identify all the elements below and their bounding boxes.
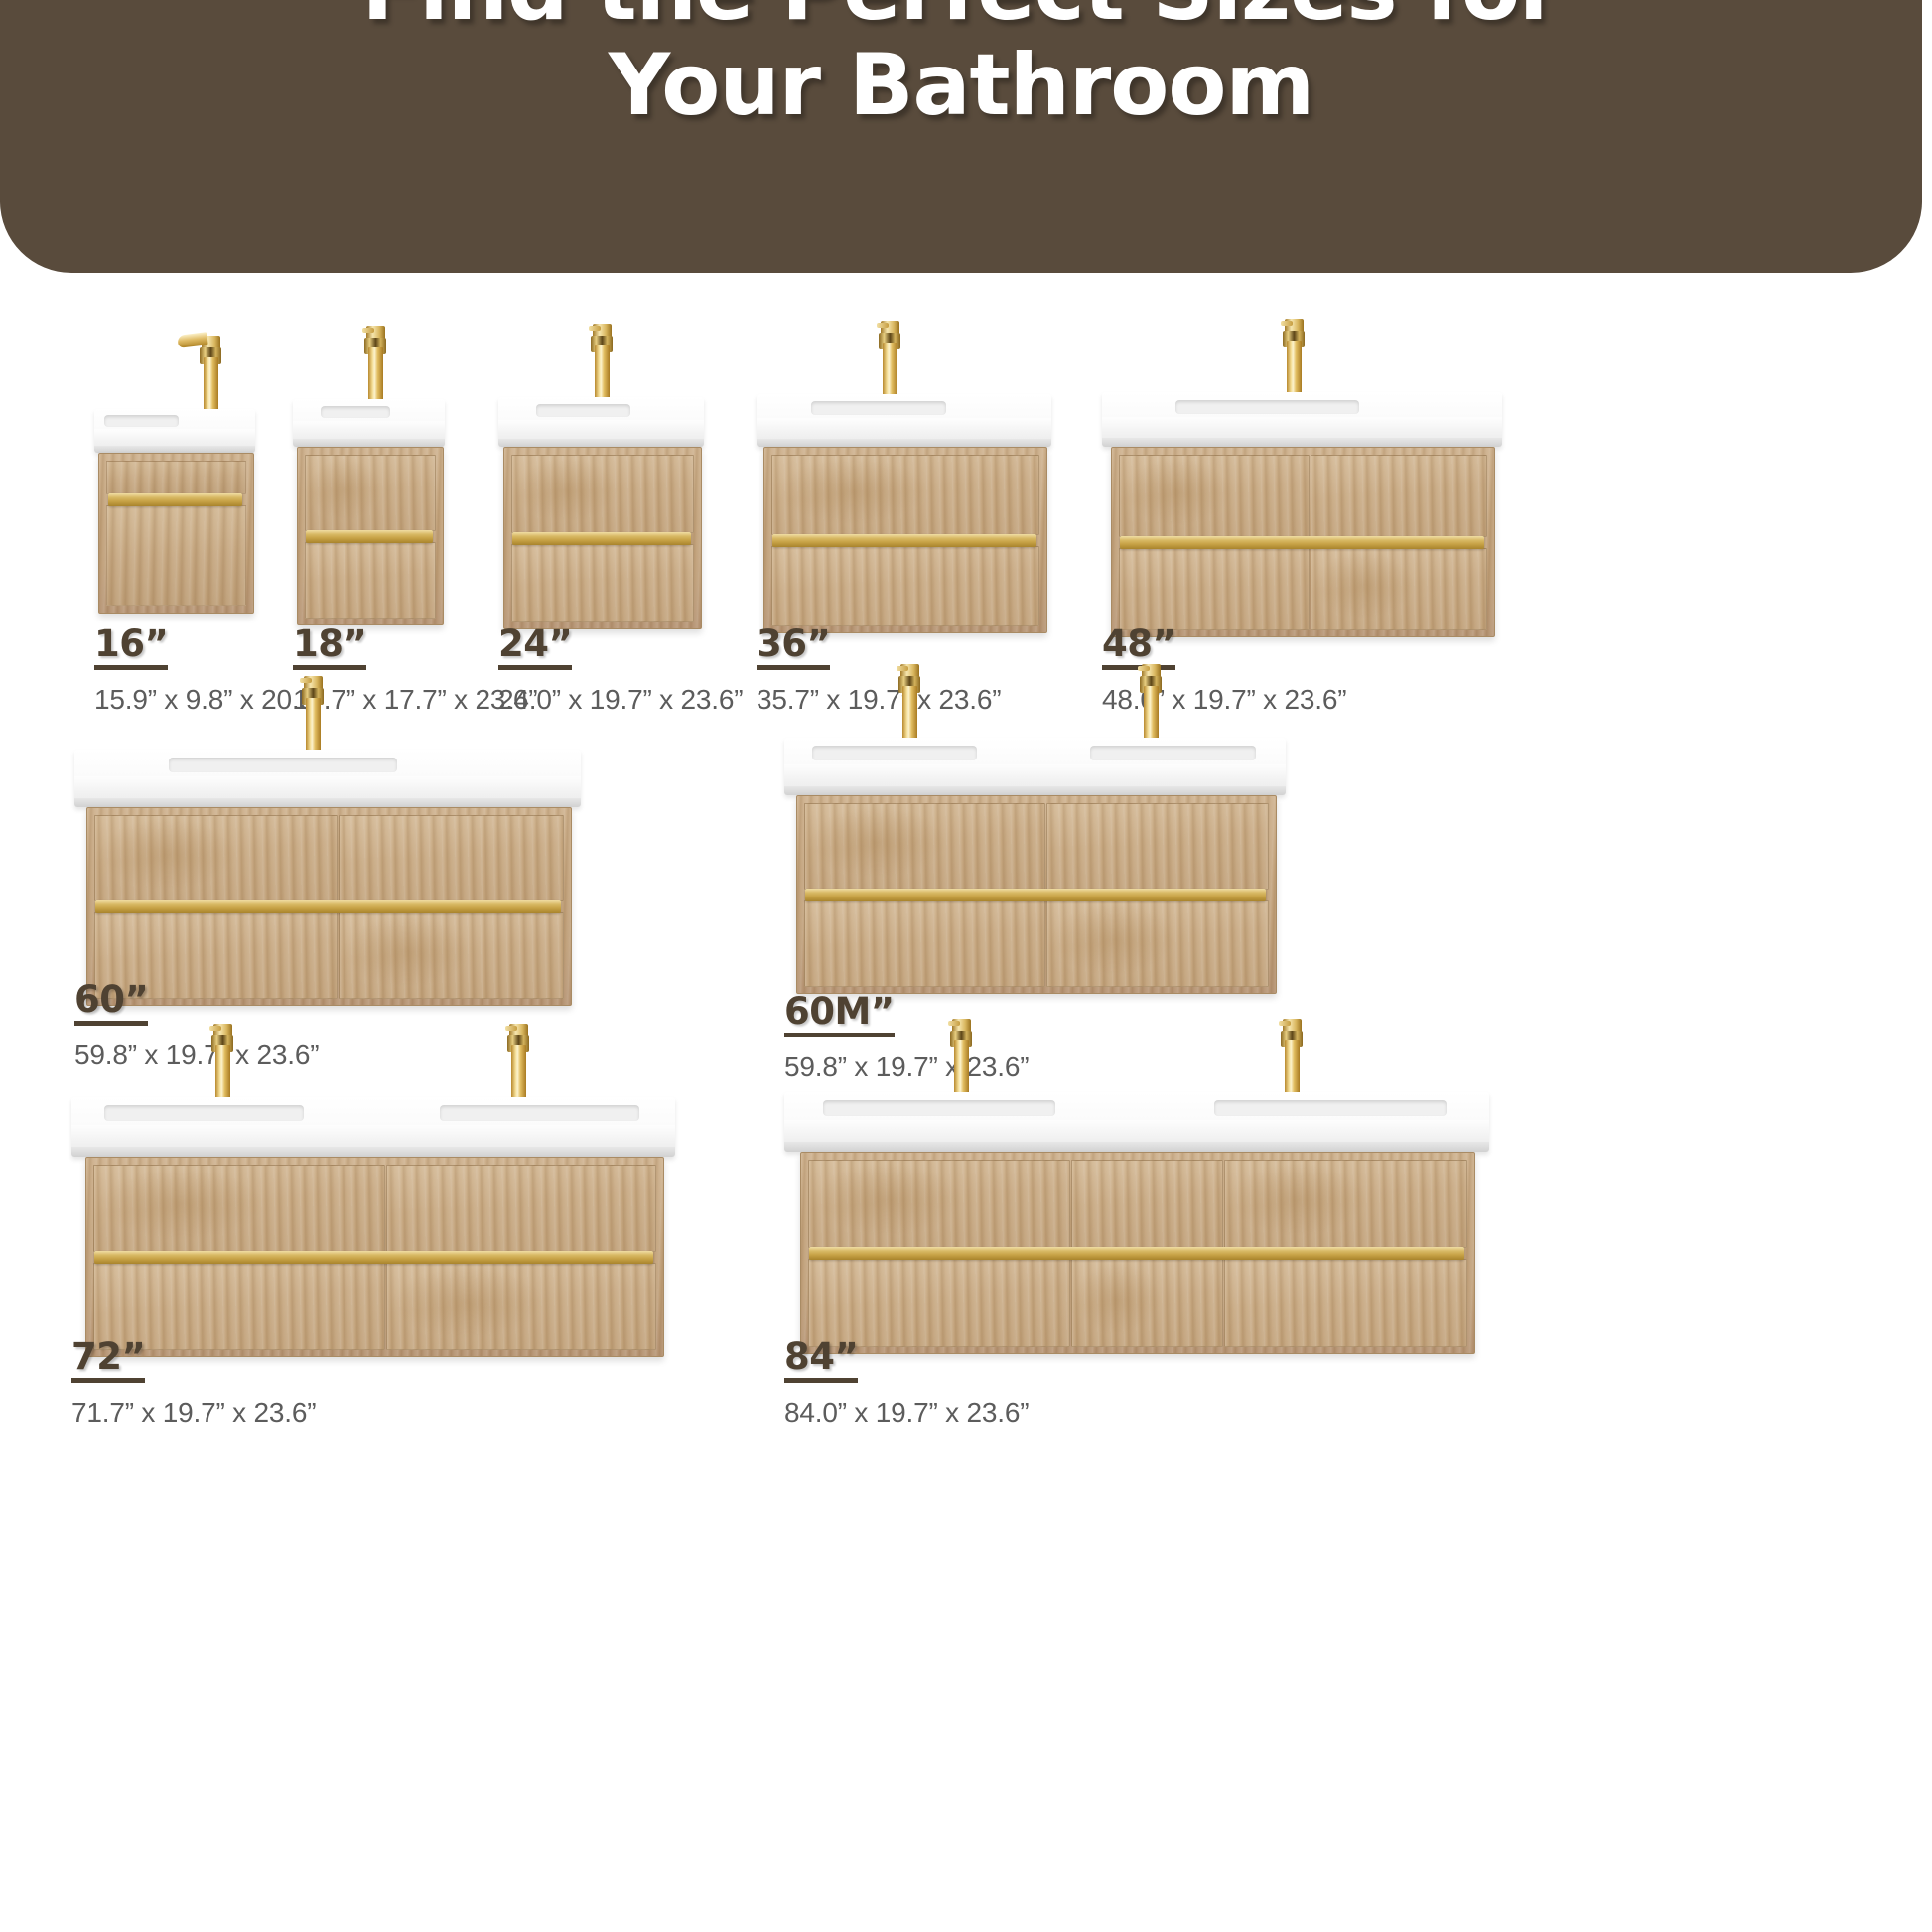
sink-basin-2	[1090, 746, 1256, 760]
sink-basin-1	[811, 401, 947, 415]
drawer-r1-c2[interactable]	[1046, 803, 1269, 890]
vanity-dimensions-60: 59.8” x 19.7” x 23.6”	[74, 1039, 319, 1071]
drawer-r2-c1[interactable]	[808, 1259, 1070, 1347]
faucet-spout-icon	[948, 1021, 960, 1026]
sink-lip	[94, 446, 255, 453]
sink-lip	[293, 439, 445, 447]
sink-top-48	[1102, 392, 1502, 447]
vanity-caption-16: 16”15.9” x 9.8” x 20.9”	[94, 625, 324, 716]
sink-basin-1	[321, 406, 390, 418]
vanity-dimensions-60M: 59.8” x 19.7” x 23.6”	[784, 1051, 1029, 1083]
cabinet-handle-bar[interactable]	[1120, 536, 1484, 549]
cabinet-24[interactable]	[503, 447, 702, 629]
drawer-r2-c3[interactable]	[1224, 1259, 1467, 1347]
drawer-r2-c1[interactable]	[1119, 548, 1310, 630]
vanity-caption-72: 72”71.7” x 19.7” x 23.6”	[71, 1338, 316, 1429]
cabinet-handle-bar[interactable]	[94, 1251, 653, 1264]
vanity-dimensions-16: 15.9” x 9.8” x 20.9”	[94, 684, 324, 716]
vanity-size-label-24: 24”	[498, 625, 572, 670]
sink-top-60	[74, 750, 581, 807]
cabinet-top-rail	[106, 461, 246, 494]
vanity-size-label-60M: 60M”	[784, 993, 895, 1037]
drawer-r2-c2[interactable]	[339, 912, 564, 999]
sink-basin-2	[440, 1105, 639, 1121]
drawer-r1-c1[interactable]	[771, 455, 1039, 535]
drawer-r1-c1[interactable]	[808, 1160, 1070, 1248]
drawer-r1-c1[interactable]	[93, 1165, 385, 1252]
vanity-size-label-36: 36”	[757, 625, 830, 670]
faucet-spout-icon	[362, 328, 374, 333]
vanity-size-label-16: 16”	[94, 625, 168, 670]
drawer-r2-c1[interactable]	[804, 900, 1045, 987]
cabinet-handle-bar[interactable]	[306, 530, 433, 543]
vanity-caption-24: 24”24.0” x 19.7” x 23.6”	[498, 625, 743, 716]
cabinet-60[interactable]	[86, 807, 572, 1006]
cabinet-48[interactable]	[1111, 447, 1495, 637]
drawer-r1-c1[interactable]	[511, 455, 694, 533]
drawer-r1-c1[interactable]	[305, 455, 436, 531]
cabinet-36[interactable]	[763, 447, 1047, 633]
cabinet-handle-bar[interactable]	[95, 900, 561, 913]
drawer-r1-c2[interactable]	[339, 815, 564, 901]
sink-basin-1	[104, 415, 179, 426]
page-title-line-1: Find the Perfect Sizes for	[0, 0, 1922, 38]
drawer-r2-c1[interactable]	[771, 546, 1039, 626]
vanity-dimensions-72: 71.7” x 19.7” x 23.6”	[71, 1397, 316, 1429]
vanity-size-label-84: 84”	[784, 1338, 858, 1383]
sink-top-84	[784, 1092, 1489, 1152]
cabinet-handle-bar[interactable]	[809, 1247, 1464, 1260]
vanity-size-label-72: 72”	[71, 1338, 145, 1383]
page-title: Find the Perfect Sizes for Your Bathroom	[0, 0, 1922, 134]
vanity-dimensions-24: 24.0” x 19.7” x 23.6”	[498, 684, 743, 716]
vanity-caption-60M: 60M”59.8” x 19.7” x 23.6”	[784, 993, 1029, 1083]
drawer-r2-c2[interactable]	[1046, 900, 1269, 987]
vanity-size-label-60: 60”	[74, 981, 148, 1026]
page-title-line-2: Your Bathroom	[0, 38, 1922, 133]
sink-top-18	[293, 399, 445, 447]
sink-lip	[498, 439, 704, 447]
faucet-spout-icon	[1279, 1021, 1291, 1026]
cabinet-18[interactable]	[297, 447, 444, 625]
sink-lip	[74, 798, 581, 807]
faucet-spout-icon	[209, 1026, 221, 1031]
cabinet-72[interactable]	[85, 1157, 664, 1357]
drawer-r1-c1[interactable]	[94, 815, 338, 901]
faucet-spout-icon	[897, 666, 908, 671]
drawer-r1-c1[interactable]	[1119, 455, 1310, 537]
sink-basin-1	[1175, 400, 1359, 414]
vanity-size-label-18: 18”	[293, 625, 366, 670]
sink-top-72	[71, 1097, 675, 1157]
drawer-r1-c2[interactable]	[1311, 455, 1487, 537]
cabinet-handle-bar[interactable]	[805, 889, 1266, 901]
vanity-caption-84: 84”84.0” x 19.7” x 23.6”	[784, 1338, 1029, 1429]
cabinet-handle-bar[interactable]	[512, 532, 691, 545]
sink-basin-1	[104, 1105, 304, 1121]
sink-top-24	[498, 397, 704, 447]
faucet-spout-icon	[300, 678, 312, 683]
sink-top-36	[757, 394, 1051, 447]
drawer-r2-c2[interactable]	[1311, 548, 1487, 630]
drawer-r1-c2[interactable]	[1071, 1160, 1223, 1248]
header-brown-panel: Find the Perfect Sizes for Your Bathroom	[0, 0, 1922, 273]
cabinet-16[interactable]	[98, 453, 254, 614]
cabinet-door-1[interactable]	[106, 505, 246, 606]
sink-basin-1	[812, 746, 978, 760]
drawer-r1-c2[interactable]	[386, 1165, 656, 1252]
faucet-spout-icon	[1281, 321, 1293, 326]
vanity-caption-60: 60”59.8” x 19.7” x 23.6”	[74, 981, 319, 1071]
drawer-r2-c1[interactable]	[511, 544, 694, 622]
cabinet-84[interactable]	[800, 1152, 1475, 1354]
sink-lip	[757, 439, 1051, 447]
sink-lip	[784, 786, 1286, 795]
drawer-r2-c1[interactable]	[305, 542, 436, 619]
drawer-r1-c1[interactable]	[804, 803, 1045, 890]
sink-lip	[71, 1147, 675, 1157]
drawer-r2-c2[interactable]	[1071, 1259, 1223, 1347]
sink-basin-1	[169, 758, 397, 772]
cabinet-60M[interactable]	[796, 795, 1277, 994]
vanity-caption-36: 36”35.7” x 19.7” x 23.6”	[757, 625, 1001, 716]
cabinet-handle-bar[interactable]	[772, 534, 1036, 547]
sink-top-16	[94, 409, 255, 453]
sink-top-60M	[784, 738, 1286, 795]
vanity-size-grid: 16”15.9” x 9.8” x 20.9”18”17.7” x 17.7” …	[0, 298, 1932, 1932]
drawer-r1-c3[interactable]	[1224, 1160, 1467, 1248]
sink-basin-1	[823, 1100, 1055, 1116]
vanity-dimensions-36: 35.7” x 19.7” x 23.6”	[757, 684, 1001, 716]
faucet-spout-icon	[1138, 666, 1150, 671]
sink-basin-1	[536, 404, 630, 417]
cabinet-handle-bar[interactable]	[108, 493, 242, 506]
sink-lip	[784, 1142, 1489, 1152]
faucet-spout-icon	[589, 326, 601, 331]
sink-lip	[1102, 438, 1502, 447]
faucet-spout-icon	[877, 323, 889, 328]
page-header: Find the Perfect Sizes for Your Bathroom	[0, 0, 1932, 298]
faucet-spout-icon	[505, 1026, 517, 1031]
drawer-r2-c2[interactable]	[386, 1263, 656, 1350]
sink-basin-2	[1214, 1100, 1447, 1116]
vanity-dimensions-84: 84.0” x 19.7” x 23.6”	[784, 1397, 1029, 1429]
